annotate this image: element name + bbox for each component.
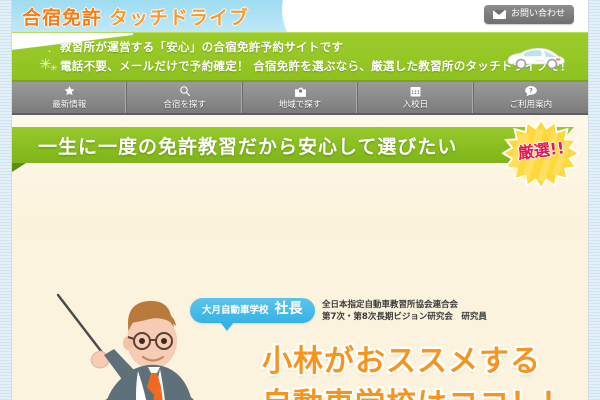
site-title-sub: タッチドライブ [109, 7, 249, 29]
nav-item-usage-guide[interactable]: ? ご利用案内 [474, 82, 588, 113]
nav-item-label: 入校日 [403, 98, 429, 110]
page-container: 合宿免許タッチドライブ お問い合わせ ✳ ✳ · 教習所が運営する「安心」の合宿… [12, 0, 588, 400]
car-icon [504, 43, 566, 71]
speaker-role: 社長 [275, 298, 303, 318]
contact-button[interactable]: お問い合わせ [484, 5, 574, 24]
question-balloon-icon: ? [524, 86, 538, 97]
hero-ribbon: 一生に一度の免許教習だから安心して選びたい [12, 127, 558, 163]
speaker-badge: 大月自動車学校 社長 [190, 298, 315, 323]
lead-banner: ✳ ✳ · 教習所が運営する「安心」の合宿免許予約サイトです 電話不要、メールだ… [12, 32, 588, 82]
nav-item-find-area[interactable]: 地域で探す [243, 82, 358, 113]
speaker-school: 大月自動車学校 [202, 302, 269, 316]
map-pin-icon [294, 86, 307, 97]
site-header: 合宿免許タッチドライブ お問い合わせ [12, 0, 588, 32]
nav-item-find-camp[interactable]: 合宿を探す [127, 82, 242, 113]
main-navigation[interactable]: 最新情報 合宿を探す 地域で探す 入校日 ? ご利用案内 [12, 82, 588, 115]
contact-button-label: お問い合わせ [511, 5, 565, 24]
site-logo[interactable]: 合宿免許タッチドライブ [22, 3, 249, 30]
ribbon-tail-left [12, 163, 26, 172]
lead-banner-text: 教習所が運営する「安心」の合宿免許予約サイトです 電話不要、メールだけで予約確定… [60, 38, 572, 76]
search-icon [179, 86, 191, 97]
nav-item-label: 合宿を探す [163, 98, 206, 110]
hero-stage: 一生に一度の免許教習だから安心して選びたい 厳選!! [12, 115, 588, 400]
nav-item-latest-info[interactable]: 最新情報 [12, 82, 127, 113]
calendar-icon [410, 86, 421, 97]
sparkle-icon: ✳ [50, 64, 58, 74]
sparkle-icon: · [48, 47, 51, 56]
hero-ribbon-text: 一生に一度の免許教習だから安心して選びたい [38, 132, 457, 159]
nav-item-label: 最新情報 [52, 98, 86, 110]
site-title-main: 合宿免許 [22, 7, 102, 29]
mail-icon [493, 10, 506, 19]
nav-item-entrance-date[interactable]: 入校日 [358, 82, 473, 113]
nav-item-label: 地域で探す [279, 98, 322, 110]
svg-text:?: ? [529, 87, 533, 95]
hero-headline: 小林がおススメする 自動車学校はココ！！ [262, 340, 572, 400]
speaker-affiliation: 全日本指定自動車教習所協会連合会 第7次・第8次長期ビジョン研究会 研究員 [322, 299, 487, 323]
star-icon [63, 86, 76, 97]
nav-item-label: ご利用案内 [510, 98, 553, 110]
